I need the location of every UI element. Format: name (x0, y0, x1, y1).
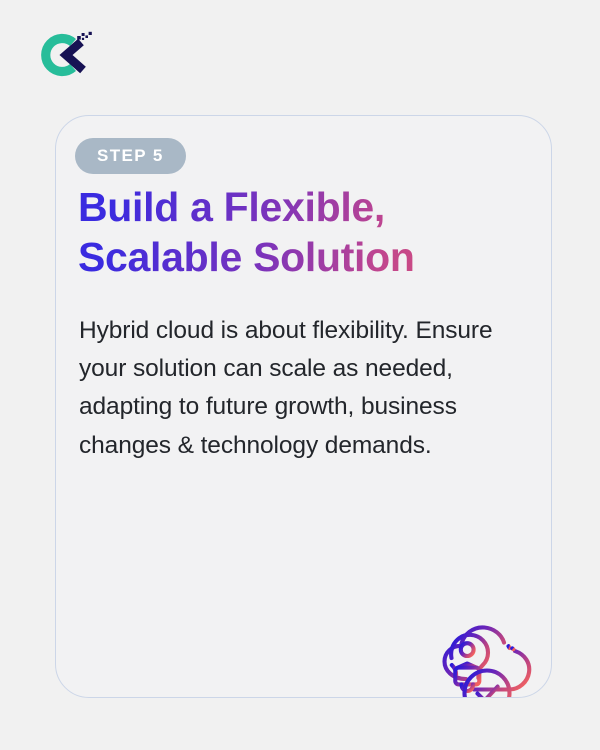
ck-logo[interactable] (33, 30, 95, 78)
logo-pixel-squares (77, 32, 92, 40)
status-badge: STEP 5 (75, 138, 186, 174)
page-title: Build a Flexible, Scalable Solution (78, 182, 498, 283)
cloud-icon-dash-2 (512, 648, 513, 649)
step-card: STEP 5 Build a Flexible, Scalable Soluti… (55, 115, 552, 698)
lightbulb-cloud-check-illustration (411, 601, 552, 698)
page-title-line-2: Scalable Solution (78, 232, 498, 282)
page-title-line-1: Build a Flexible, (78, 182, 498, 232)
cloud-icon-dash-1 (509, 646, 510, 648)
card-body-text: Hybrid cloud is about flexibility. Ensur… (79, 312, 531, 465)
